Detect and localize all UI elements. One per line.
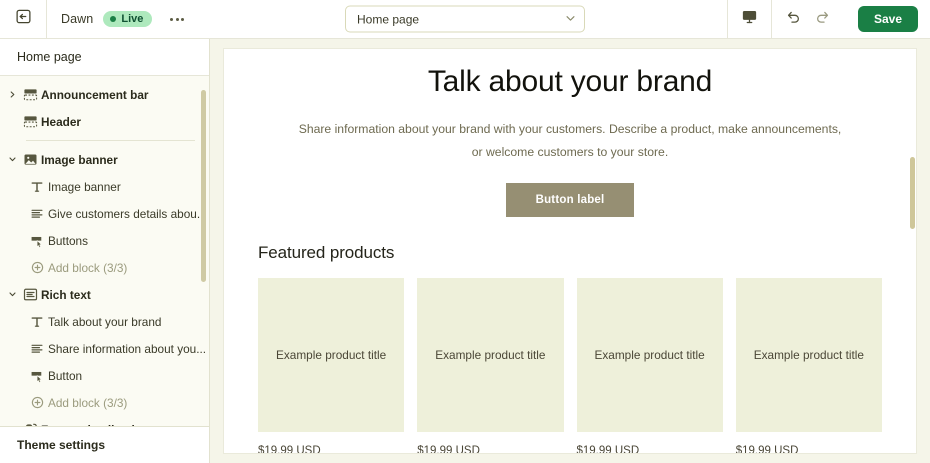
sidebar-item-label: Announcement bar: [41, 88, 149, 102]
preview-frame[interactable]: Talk about your brand Share information …: [223, 48, 917, 454]
featured-collection-section[interactable]: Featured products Example product title …: [224, 217, 916, 454]
sidebar-item-label: Image banner: [48, 180, 121, 194]
save-button-wrap: Save: [844, 0, 930, 38]
product-card[interactable]: Example product title $19.99 USD: [417, 278, 563, 454]
product-title: Example product title: [435, 348, 545, 362]
product-image-placeholder: Example product title: [417, 278, 563, 432]
product-card[interactable]: Example product title $19.99 USD: [736, 278, 882, 454]
plus-circle-icon: [26, 261, 48, 274]
sidebar-item-header[interactable]: Header: [0, 108, 209, 135]
add-block-button-add-block-3-3[interactable]: Add block (3/3): [0, 254, 209, 281]
paragraph-lines-icon: [26, 342, 48, 356]
rich-text-icon: [19, 287, 41, 302]
product-price: $19.99 USD: [736, 445, 882, 454]
undo-arrow-icon: [785, 8, 802, 30]
product-title: Example product title: [754, 348, 864, 362]
sidebar-item-label: Button: [48, 369, 82, 383]
page-selector-wrap: Home page: [345, 6, 585, 33]
theme-editor-app: Dawn Live Home page: [0, 0, 930, 463]
sidebar-item-label: Image banner: [41, 153, 118, 167]
section-tree: Announcement bar Header Image banner Ima…: [0, 81, 209, 426]
hero-button-wrap: Button label: [264, 183, 876, 217]
sidebar-item-label: Add block (3/3): [48, 261, 127, 275]
chevron-down-icon[interactable]: [6, 157, 19, 162]
chevron-right-icon[interactable]: [6, 91, 19, 98]
storefront-preview: Talk about your brand Share information …: [224, 49, 916, 454]
button-cursor-icon: [26, 369, 48, 383]
image-banner-icon: [19, 152, 41, 167]
hero-cta-button[interactable]: Button label: [506, 183, 635, 217]
product-card[interactable]: Example product title $19.99 USD: [577, 278, 723, 454]
desktop-monitor-icon: [741, 8, 758, 30]
featured-heading: Featured products: [258, 243, 882, 263]
paragraph-lines-icon: [26, 207, 48, 221]
chevron-down-icon[interactable]: [6, 292, 19, 297]
theme-name-label: Dawn: [61, 12, 93, 26]
sections-sidebar: Home page Announcement bar Header Image …: [0, 39, 210, 463]
button-cursor-icon: [26, 234, 48, 248]
redo-button[interactable]: [814, 8, 831, 30]
sidebar-item-rich-text[interactable]: Rich text: [0, 281, 209, 308]
sidebar-item-buttons[interactable]: Buttons: [0, 227, 209, 254]
history-group: [771, 0, 844, 38]
sidebar-item-image-banner[interactable]: Image banner: [0, 146, 209, 173]
preview-scrollbar-thumb[interactable]: [910, 157, 915, 229]
plus-circle-icon: [26, 396, 48, 409]
save-button[interactable]: Save: [858, 6, 918, 32]
toolbar-right-group: Save: [727, 0, 930, 38]
hero-paragraph: Share information about your brand with …: [298, 118, 843, 163]
sidebar-item-button[interactable]: Button: [0, 362, 209, 389]
more-horizontal-icon[interactable]: [164, 12, 190, 27]
sidebar-item-label: Buttons: [48, 234, 88, 248]
sidebar-item-label: Header: [41, 115, 81, 129]
text-heading-icon: [26, 315, 48, 329]
editor-body: Home page Announcement bar Header Image …: [0, 39, 930, 463]
product-price: $19.99 USD: [577, 445, 723, 454]
redo-arrow-icon: [814, 8, 831, 30]
sidebar-item-label: Add block (3/3): [48, 396, 127, 410]
price-tag-icon: [19, 422, 41, 426]
sidebar-item-share-information-about-you[interactable]: Share information about you...: [0, 335, 209, 362]
sidebar-item-announcement-bar[interactable]: Announcement bar: [0, 81, 209, 108]
sidebar-item-image-banner[interactable]: Image banner: [0, 173, 209, 200]
exit-editor-button[interactable]: [0, 0, 47, 38]
page-selector[interactable]: Home page: [345, 6, 585, 33]
sidebar-item-talk-about-your-brand[interactable]: Talk about your brand: [0, 308, 209, 335]
sidebar-scroll-region: Announcement bar Header Image banner Ima…: [0, 76, 209, 426]
theme-settings-button[interactable]: Theme settings: [0, 426, 209, 463]
sidebar-item-label: Talk about your brand: [48, 315, 161, 329]
text-heading-icon: [26, 180, 48, 194]
sidebar-item-label: Give customers details abou...: [48, 207, 207, 221]
product-card[interactable]: Example product title $19.99 USD: [258, 278, 404, 454]
page-selector-value: Home page: [357, 12, 419, 26]
section-bar-icon: [19, 114, 41, 129]
section-bar-icon: [19, 87, 41, 102]
device-preview-button[interactable]: [727, 0, 771, 38]
sidebar-item-featured-collection[interactable]: Featured collection: [0, 416, 209, 426]
product-image-placeholder: Example product title: [736, 278, 882, 432]
sidebar-divider: [26, 140, 195, 141]
status-badge: Live: [103, 11, 152, 27]
chevron-down-icon: [566, 15, 575, 24]
top-toolbar: Dawn Live Home page: [0, 0, 930, 39]
product-image-placeholder: Example product title: [577, 278, 723, 432]
sidebar-item-give-customers-details-abou[interactable]: Give customers details abou...: [0, 200, 209, 227]
exit-left-icon: [15, 8, 32, 30]
product-title: Example product title: [276, 348, 386, 362]
theme-info-group: Dawn Live: [47, 0, 190, 38]
rich-text-section[interactable]: Talk about your brand Share information …: [224, 49, 916, 217]
add-block-button-add-block-3-3[interactable]: Add block (3/3): [0, 389, 209, 416]
product-title: Example product title: [595, 348, 705, 362]
product-image-placeholder: Example product title: [258, 278, 404, 432]
hero-heading: Talk about your brand: [264, 64, 876, 100]
status-dot-icon: [110, 16, 116, 22]
sidebar-item-label: Rich text: [41, 288, 91, 302]
product-price: $19.99 USD: [417, 445, 563, 454]
sidebar-scrollbar-thumb[interactable]: [201, 90, 206, 282]
sidebar-item-label: Featured collection: [41, 423, 149, 427]
preview-canvas: Talk about your brand Share information …: [210, 39, 930, 463]
sidebar-item-label: Share information about you...: [48, 342, 206, 356]
undo-button[interactable]: [785, 8, 802, 30]
status-badge-label: Live: [121, 13, 143, 25]
product-price: $19.99 USD: [258, 445, 404, 454]
product-grid: Example product title $19.99 USDExample …: [258, 278, 882, 454]
sidebar-page-title: Home page: [0, 39, 209, 76]
